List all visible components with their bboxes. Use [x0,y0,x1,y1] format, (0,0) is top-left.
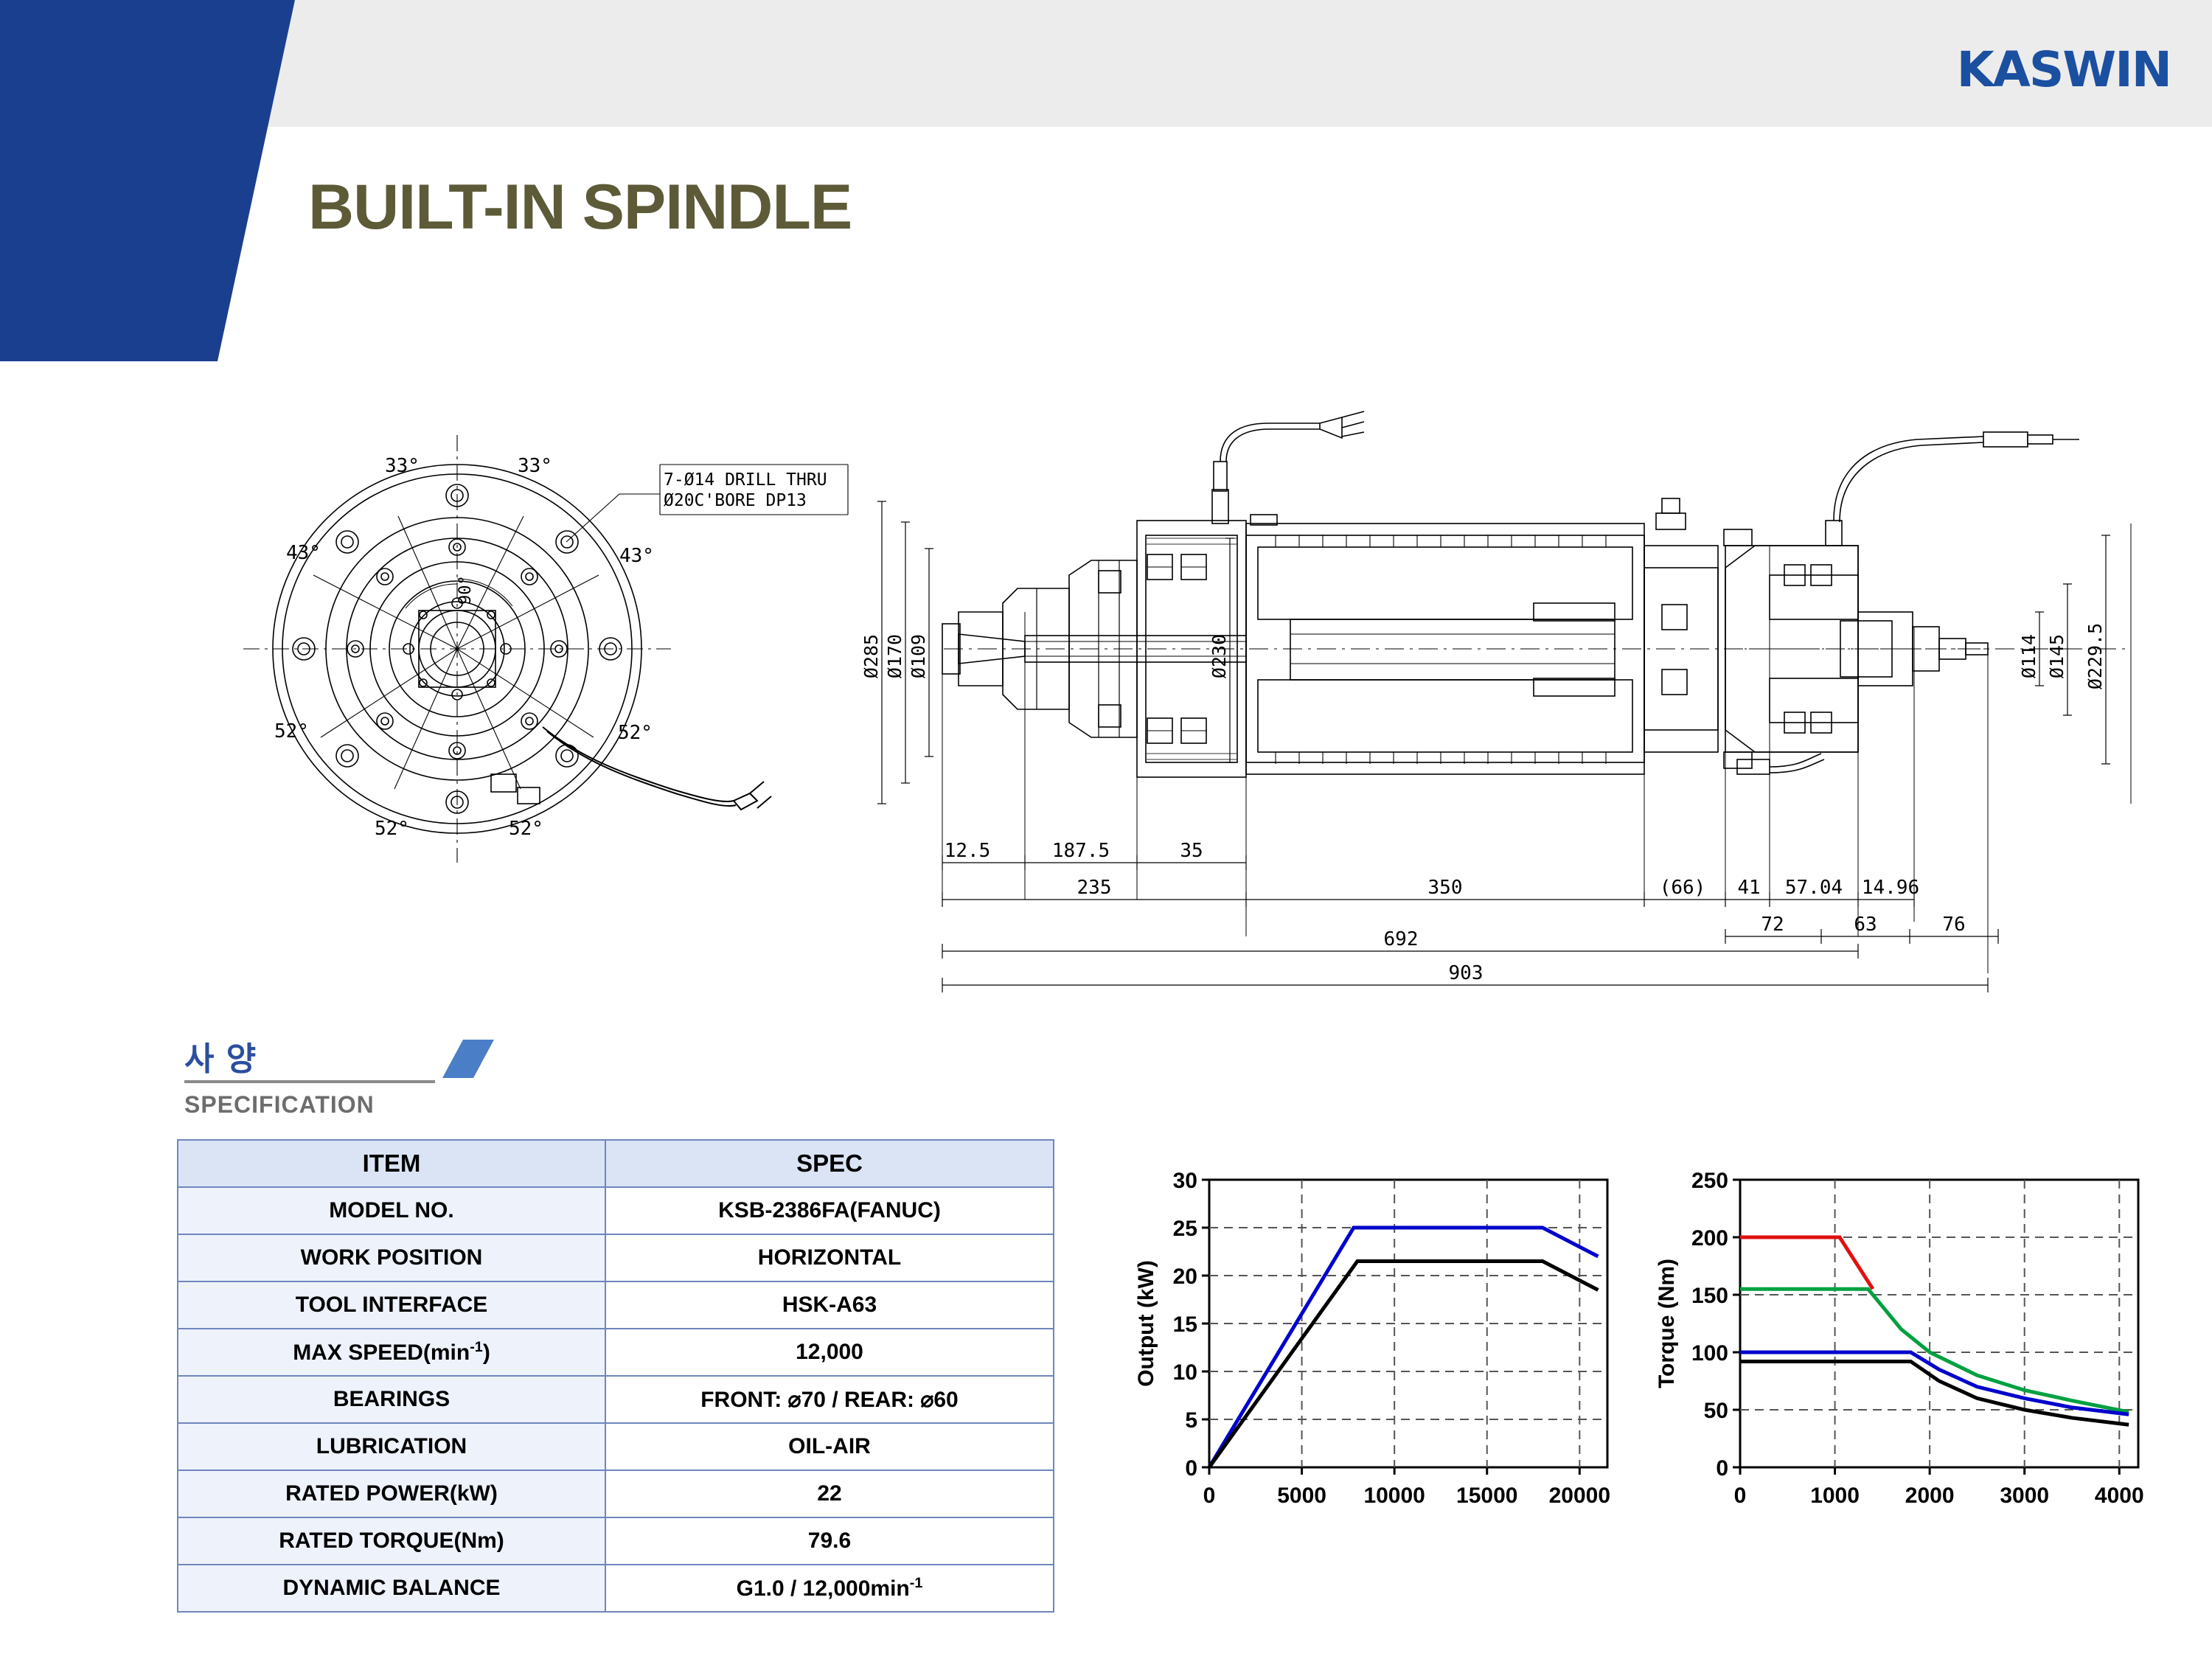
spec-item-label: WORK POSITION [178,1234,605,1281]
spec-item-value: FRONT: ⌀70 / REAR: ⌀60 [605,1376,1054,1423]
column-header-spec: SPEC [605,1140,1054,1187]
svg-text:52°: 52° [375,818,409,840]
svg-text:72: 72 [1761,914,1784,936]
svg-text:14.96: 14.96 [1862,877,1919,899]
torque-chart: 050100150200250 01000200030004000 Torque… [1644,1165,2160,1545]
svg-text:35: 35 [1180,840,1203,862]
svg-text:187.5: 187.5 [1052,840,1110,862]
svg-text:52°: 52° [509,818,543,840]
y-tick-label: 250 [1691,1169,1728,1193]
spec-item-label: MAX SPEED(min-1) [178,1329,605,1376]
spec-item-value: KSB-2386FA(FANUC) [605,1187,1054,1234]
svg-text:7-Ø14 DRILL THRU: 7-Ø14 DRILL THRU [664,470,827,490]
spec-heading-english: SPECIFICATION [184,1091,375,1119]
spec-item-label: MODEL NO. [178,1187,605,1234]
output-power-chart: 051015202530 05000100001500020000 Output… [1128,1165,1630,1545]
x-tick-label: 0 [1734,1484,1747,1508]
spec-item-value: 22 [605,1470,1054,1517]
spec-item-label: RATED POWER(kW) [178,1470,605,1517]
x-tick-label: 4000 [2095,1484,2144,1508]
svg-text:903: 903 [1449,962,1484,984]
kaswin-logo: KASWIN [1957,41,2171,98]
kaswin-logo-text: KASWIN [1957,41,2171,98]
x-tick-label: 3000 [2000,1484,2049,1508]
y-tick-label: 0 [1716,1456,1728,1481]
section-view: Ø285 Ø170 Ø109 Ø230 Ø114 Ø145 Ø229.5 [860,411,2131,992]
spec-item-value: HORIZONTAL [605,1234,1054,1281]
y-tick-label: 20 [1173,1265,1197,1289]
y-tick-label: 10 [1173,1360,1197,1385]
svg-text:90°: 90° [456,575,475,605]
svg-text:Ø170: Ø170 [884,634,905,678]
spec-heading-korean: 사 양 [184,1032,257,1079]
svg-text:41: 41 [1737,877,1760,899]
output-y-axis-label: Output (kW) [1134,1260,1158,1387]
spec-heading-accent [442,1040,494,1078]
x-tick-label: 1000 [1810,1484,1860,1508]
spec-item-label: LUBRICATION [178,1423,605,1470]
svg-text:43°: 43° [286,542,321,564]
spec-item-value: 12,000 [605,1329,1054,1376]
svg-text:692: 692 [1384,928,1419,950]
svg-text:33°: 33° [385,455,420,477]
y-tick-label: 200 [1691,1226,1728,1251]
svg-text:57.04: 57.04 [1785,877,1843,899]
svg-text:Ø145: Ø145 [2046,634,2067,678]
spec-item-value: OIL-AIR [605,1423,1054,1470]
table-header-row: ITEM SPEC [178,1140,1054,1187]
table-row: LUBRICATION OIL-AIR [178,1423,1054,1470]
spec-item-value: HSK-A63 [605,1281,1054,1329]
x-tick-label: 5000 [1277,1484,1326,1508]
specification-table: ITEM SPEC MODEL NO. KSB-2386FA(FANUC) WO… [177,1139,1054,1613]
x-tick-label: 10000 [1363,1484,1425,1508]
spec-item-label: BEARINGS [178,1376,605,1423]
svg-text:12.5: 12.5 [945,840,991,862]
spindle-technical-drawing: 33° 33° 43° 43° 52° 52° 52° 52° 90° 7-Ø1… [111,391,2175,1003]
svg-text:76: 76 [1942,914,1965,936]
torque-chart-plot: 050100150200250 01000200030004000 Torque… [1655,1169,2144,1508]
table-row: TOOL INTERFACE HSK-A63 [178,1281,1054,1329]
svg-text:Ø114: Ø114 [2018,634,2039,678]
y-tick-label: 0 [1185,1456,1197,1481]
y-tick-label: 150 [1691,1284,1728,1308]
column-header-item: ITEM [178,1140,605,1187]
x-tick-label: 0 [1203,1484,1216,1508]
table-row: MAX SPEED(min-1) 12,000 [178,1329,1054,1376]
svg-text:Ø229.5: Ø229.5 [2084,623,2106,689]
y-tick-label: 25 [1173,1217,1197,1241]
table-row: RATED TORQUE(Nm) 79.6 [178,1517,1054,1565]
svg-text:Ø230: Ø230 [1208,634,1230,678]
header-band [0,0,2212,127]
table-row: DYNAMIC BALANCE G1.0 / 12,000min-1 [178,1565,1054,1612]
table-row: MODEL NO. KSB-2386FA(FANUC) [178,1187,1054,1234]
svg-text:(66): (66) [1660,877,1706,899]
svg-text:Ø109: Ø109 [908,634,929,678]
svg-text:52°: 52° [274,720,309,742]
svg-text:Ø20C'BORE DP13: Ø20C'BORE DP13 [664,491,807,510]
spec-item-label: RATED TORQUE(Nm) [178,1517,605,1565]
spec-item-value: 79.6 [605,1517,1054,1565]
spec-heading-rule [184,1080,435,1083]
output-chart-plot: 051015202530 05000100001500020000 Output… [1134,1169,1610,1508]
y-tick-label: 15 [1173,1312,1197,1337]
x-tick-label: 15000 [1456,1484,1517,1508]
svg-text:63: 63 [1854,914,1877,936]
table-row: BEARINGS FRONT: ⌀70 / REAR: ⌀60 [178,1376,1054,1423]
y-tick-label: 50 [1704,1399,1728,1423]
y-tick-label: 100 [1691,1341,1728,1366]
header-accent-wedge [0,0,295,361]
x-tick-label: 2000 [1905,1484,1955,1508]
table-row: WORK POSITION HORIZONTAL [178,1234,1054,1281]
table-row: RATED POWER(kW) 22 [178,1470,1054,1517]
y-tick-label: 30 [1173,1169,1197,1193]
svg-text:43°: 43° [619,545,654,567]
front-flange-view: 33° 33° 43° 43° 52° 52° 52° 52° 90° 7-Ø1… [243,435,848,863]
y-tick-label: 5 [1185,1408,1197,1433]
spec-item-value: G1.0 / 12,000min-1 [605,1565,1054,1612]
svg-text:350: 350 [1428,877,1463,899]
spec-item-label: TOOL INTERFACE [178,1281,605,1329]
svg-text:235: 235 [1077,877,1112,899]
svg-text:Ø285: Ø285 [860,634,882,678]
x-tick-label: 20000 [1549,1484,1610,1508]
spec-item-label: DYNAMIC BALANCE [178,1565,605,1612]
torque-y-axis-label: Torque (Nm) [1655,1259,1679,1388]
svg-text:52°: 52° [618,722,653,744]
svg-text:33°: 33° [518,455,552,477]
page-title: BUILT-IN SPINDLE [308,171,852,244]
